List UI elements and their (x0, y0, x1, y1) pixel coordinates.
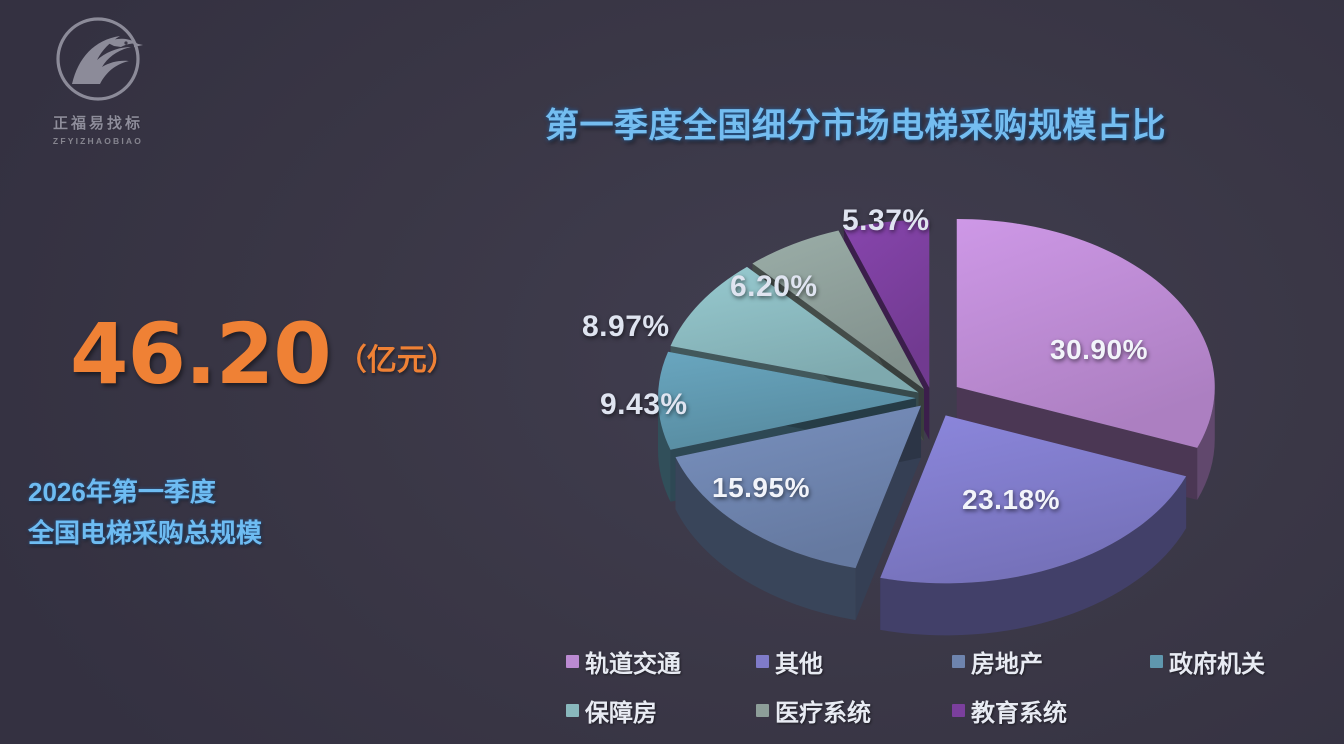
legend-item-guidao[interactable]: 轨道交通 (566, 644, 756, 679)
legend-label-jiaoyu: 教育系统 (971, 693, 1067, 728)
slide-canvas: 正福易找标 ZFYIZHAOBIAO 46.20 （亿元） 2026年第一季度 … (0, 0, 1344, 744)
legend-item-zhengfu[interactable]: 政府机关 (1150, 644, 1265, 679)
legend-item-jiaoyu[interactable]: 教育系统 (952, 693, 1067, 728)
chart-title: 第一季度全国细分市场电梯采购规模占比 (545, 98, 1166, 147)
legend-row-1: 轨道交通 其他 房地产 政府机关 (566, 644, 1326, 679)
legend-label-guidao: 轨道交通 (585, 644, 681, 679)
legend-swatch-guidao (566, 655, 579, 668)
total-value-block: 46.20 （亿元） (70, 316, 457, 393)
pie-label-jiaoyu: 5.37% (842, 204, 930, 238)
legend-label-fangdichan: 房地产 (971, 644, 1043, 679)
legend-swatch-zhengfu (1150, 655, 1163, 668)
brand-name-cn: 正福易找标 (53, 112, 143, 133)
total-value-unit: （亿元） (337, 335, 457, 379)
legend-label-qita: 其他 (775, 644, 823, 679)
legend-swatch-fangdichan (952, 655, 965, 668)
total-caption: 2026年第一季度 全国电梯采购总规模 (28, 472, 262, 553)
legend-item-qita[interactable]: 其他 (756, 644, 952, 679)
legend-item-baozhangfang[interactable]: 保障房 (566, 693, 756, 728)
legend-item-yiliao[interactable]: 医疗系统 (756, 693, 952, 728)
pie-label-zhengfu: 9.43% (600, 388, 688, 422)
legend-swatch-qita (756, 655, 769, 668)
pie-label-guidao: 30.90% (1050, 334, 1148, 366)
total-caption-line2: 全国电梯采购总规模 (28, 513, 262, 554)
pie-label-qita: 23.18% (962, 484, 1060, 516)
legend-swatch-yiliao (756, 704, 769, 717)
total-caption-line1: 2026年第一季度 (28, 472, 262, 513)
pie-label-yiliao: 6.20% (730, 270, 818, 304)
legend-swatch-jiaoyu (952, 704, 965, 717)
legend-label-zhengfu: 政府机关 (1169, 644, 1265, 679)
legend-row-2: 保障房 医疗系统 教育系统 (566, 693, 1326, 728)
brand-name-en: ZFYIZHAOBIAO (53, 136, 143, 146)
pie-label-baozhangfang: 8.97% (582, 310, 670, 344)
pie-label-fangdichan: 15.95% (712, 472, 810, 504)
eagle-circle-logo-icon (48, 14, 148, 110)
total-value: 46.20 (70, 316, 331, 393)
chart-legend: 轨道交通 其他 房地产 政府机关 保障房 医疗系统 (566, 644, 1326, 742)
legend-label-yiliao: 医疗系统 (775, 693, 871, 728)
legend-swatch-baozhangfang (566, 704, 579, 717)
legend-label-baozhangfang: 保障房 (585, 693, 657, 728)
legend-item-fangdichan[interactable]: 房地产 (952, 644, 1150, 679)
brand-logo: 正福易找标 ZFYIZHAOBIAO (28, 14, 168, 154)
pie-chart: 5.37% 6.20% 8.97% 9.43% (560, 170, 1300, 640)
